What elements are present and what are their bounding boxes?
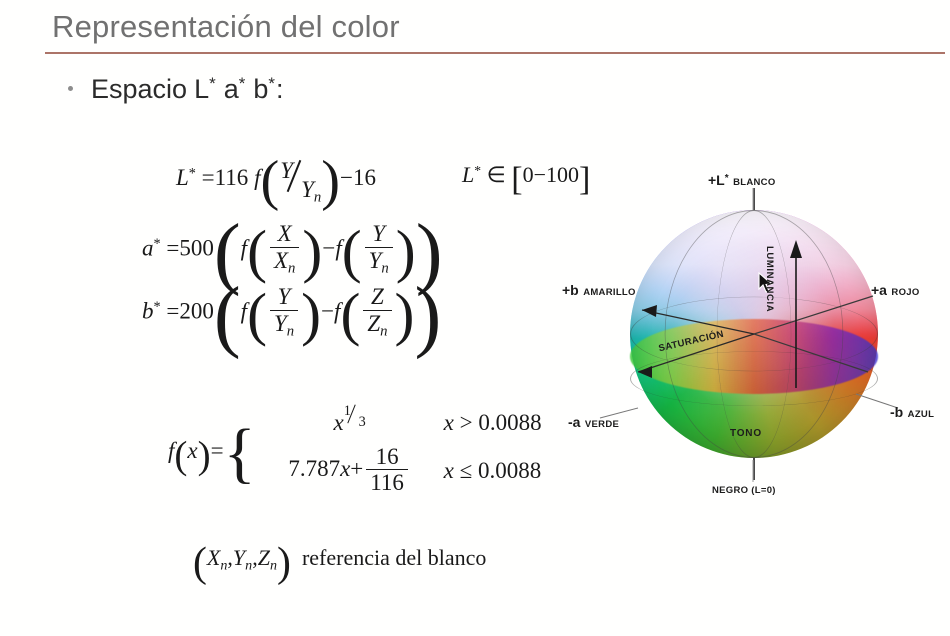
eq-a-den-1: Xn: [270, 247, 299, 277]
label-l-axis-white: +L* BLANCO: [708, 172, 776, 190]
paren-inner-close-1: ): [301, 294, 321, 336]
eq-a-equals: =: [166, 235, 179, 260]
equation-reference-white: (Xn,Yn,Zn) referencia del blanco: [193, 545, 486, 575]
eq-L-coef: 116: [215, 165, 249, 190]
label-a-plus: +a: [871, 282, 887, 298]
paren-inner-close-2: ): [396, 231, 416, 273]
label-tono: TONO: [730, 428, 762, 439]
equation-piecewise-f: f(x)={ x13 x > 0.0088 7.787x+16116 x ≤ 0…: [168, 410, 542, 496]
label-azul: AZUL: [908, 409, 935, 420]
bullet-symbol-a: a: [224, 74, 239, 104]
range-dash: −: [534, 162, 546, 187]
bullet-symbol-b: b: [253, 74, 268, 104]
f-case-1-base: x: [334, 410, 344, 435]
eq-L-den: Yn: [301, 177, 321, 207]
eq-L-ratio: YYn: [279, 168, 321, 191]
f-brace-icon: {: [224, 440, 256, 468]
f-case-2-expr: 7.787x+16116: [256, 446, 444, 496]
f-equals: =: [211, 438, 224, 463]
ref-text: referencia del blanco: [302, 545, 486, 570]
label-verde: VERDE: [585, 419, 619, 430]
label-l-plus: +L: [708, 172, 725, 188]
page-title: Representación del color: [52, 9, 400, 45]
eq-a-ratio-2: YYn: [365, 222, 393, 276]
f-cond-2-val: 0.0088: [478, 458, 541, 483]
f-case-2-num: 16: [372, 445, 403, 469]
eq-L-lhs: L: [176, 165, 189, 190]
f-cond-2-var: x: [444, 458, 454, 483]
eq-b-ratio-2: ZZn: [363, 285, 391, 339]
f-case-1-cond: x > 0.0088: [444, 410, 542, 436]
equation-a-star: a* =500(f(XXn)−f(YYn)): [142, 222, 443, 278]
ref-Yn: Yn: [233, 545, 252, 570]
ref-paren-close: ): [277, 549, 291, 578]
paren-inner-open-2: (: [342, 231, 362, 273]
eq-b-den-2: Zn: [363, 310, 391, 340]
label-b-minus: -b: [890, 404, 903, 420]
bullet-item-label: EspacioL*a*b*:: [91, 74, 284, 105]
label-amarillo: AMARILLO: [583, 287, 636, 298]
f-lhs-paren-open: (: [174, 442, 187, 469]
f-case-1-expr: x13: [256, 410, 444, 436]
paren-close: ): [321, 162, 340, 201]
eq-a-den-2: Yn: [365, 247, 393, 277]
ref-Zn: Zn: [258, 545, 277, 570]
paren-open: (: [260, 162, 279, 201]
label-b-negative-blue: -b AZUL: [890, 404, 934, 422]
label-l-star: *: [725, 173, 729, 184]
eq-b-star: *: [154, 299, 161, 315]
eq-a-star: *: [154, 236, 161, 252]
label-b-plus: +b: [562, 282, 579, 298]
label-b-positive-yellow: +b AMARILLO: [562, 282, 636, 300]
range-open: [: [511, 168, 522, 192]
bullet-star-2: *: [239, 74, 247, 93]
equation-lightness: L* =116 f(YYn)−16: [176, 160, 376, 199]
f-case-2-cond: x ≤ 0.0088: [444, 458, 542, 484]
paren-inner-open-1: (: [247, 294, 267, 336]
eq-a-coef: 500: [179, 235, 214, 260]
f-cond-1-val: 0.0088: [478, 410, 541, 435]
eq-b-minus: −: [321, 298, 334, 323]
eq-b-coef: 200: [179, 298, 214, 323]
f-case-row-2: 7.787x+16116 x ≤ 0.0088: [256, 446, 542, 496]
eq-b-num-1: Y: [274, 285, 295, 309]
f-cond-2-op: ≤: [460, 458, 473, 483]
paren-outer-close: ): [414, 288, 441, 344]
range-lhs: L: [462, 162, 474, 187]
f-case-2-plus: +: [350, 456, 363, 481]
eq-L-star: *: [189, 166, 196, 182]
f-exp-den: 3: [359, 414, 366, 431]
ref-paren-open: (: [193, 549, 207, 578]
f-case-2-var: x: [340, 456, 350, 481]
label-rojo: ROJO: [891, 287, 919, 298]
eq-a-num-2: Y: [368, 222, 389, 246]
eq-b-den-1: Yn: [270, 310, 298, 340]
f-cases: x13 x > 0.0088 7.787x+16116 x ≤ 0.0088: [256, 410, 542, 496]
f-lhs-var: x: [187, 438, 197, 463]
bullet-marker-icon: [68, 86, 73, 91]
bullet-star-3: *: [268, 74, 276, 93]
eq-a-num-1: X: [274, 222, 296, 246]
range-lo: 0: [523, 162, 534, 187]
bullet-word-espacio: Espacio: [91, 74, 187, 104]
eq-b-ratio-1: YYn: [270, 285, 298, 339]
paren-inner-close-2: ): [395, 294, 415, 336]
bullet-symbol-L: L: [194, 74, 209, 104]
eq-a-minus: −: [322, 235, 335, 260]
paren-inner-open-1: (: [247, 231, 267, 273]
paren-outer-open: (: [214, 288, 241, 344]
label-a-minus: -a: [568, 414, 580, 430]
paren-inner-open-2: (: [340, 294, 360, 336]
label-negro: NEGRO (L=0): [712, 485, 776, 496]
label-luminancia: LUMINANCIA: [764, 246, 775, 312]
lab-color-sphere-figure: +L* BLANCO +b AMARILLO +a ROJO -a VERDE …: [560, 160, 950, 510]
bullet-star-1: *: [209, 74, 217, 93]
range-member-icon: ∈: [487, 162, 506, 187]
eq-L-const: 16: [353, 165, 376, 190]
bullet-item: EspacioL*a*b*:: [68, 74, 284, 105]
eq-b-equals: =: [166, 298, 179, 323]
eq-b-num-2: Z: [367, 285, 388, 309]
f-case-2-den: 116: [366, 469, 408, 494]
ref-Xn: Xn: [207, 545, 228, 570]
f-case-row-1: x13 x > 0.0088: [256, 410, 542, 436]
eq-b-lhs: b: [142, 298, 154, 323]
f-case-1-exponent: 13: [344, 409, 366, 423]
title-divider: [45, 52, 945, 54]
label-blanco: BLANCO: [733, 177, 775, 188]
label-a-positive-red: +a ROJO: [871, 282, 920, 300]
f-lhs-paren-close: ): [198, 442, 211, 469]
label-a-negative-green: -a VERDE: [568, 414, 619, 432]
bullet-colon: :: [276, 74, 284, 104]
paren-inner-close-1: ): [302, 231, 322, 273]
range-star: *: [474, 163, 481, 178]
f-case-2-frac: 16116: [366, 445, 408, 495]
f-cond-1-var: x: [444, 410, 454, 435]
eq-a-ratio-1: XXn: [270, 222, 299, 276]
eq-L-minus: −: [340, 165, 353, 190]
figure-leader-lines: [560, 160, 950, 510]
eq-a-lhs: a: [142, 235, 154, 260]
eq-L-equals: =: [202, 165, 215, 190]
f-case-2-coef: 7.787: [288, 456, 340, 481]
f-cond-1-op: >: [460, 410, 473, 435]
equation-b-star: b* =200(f(YYn)−f(ZZn)): [142, 285, 441, 341]
